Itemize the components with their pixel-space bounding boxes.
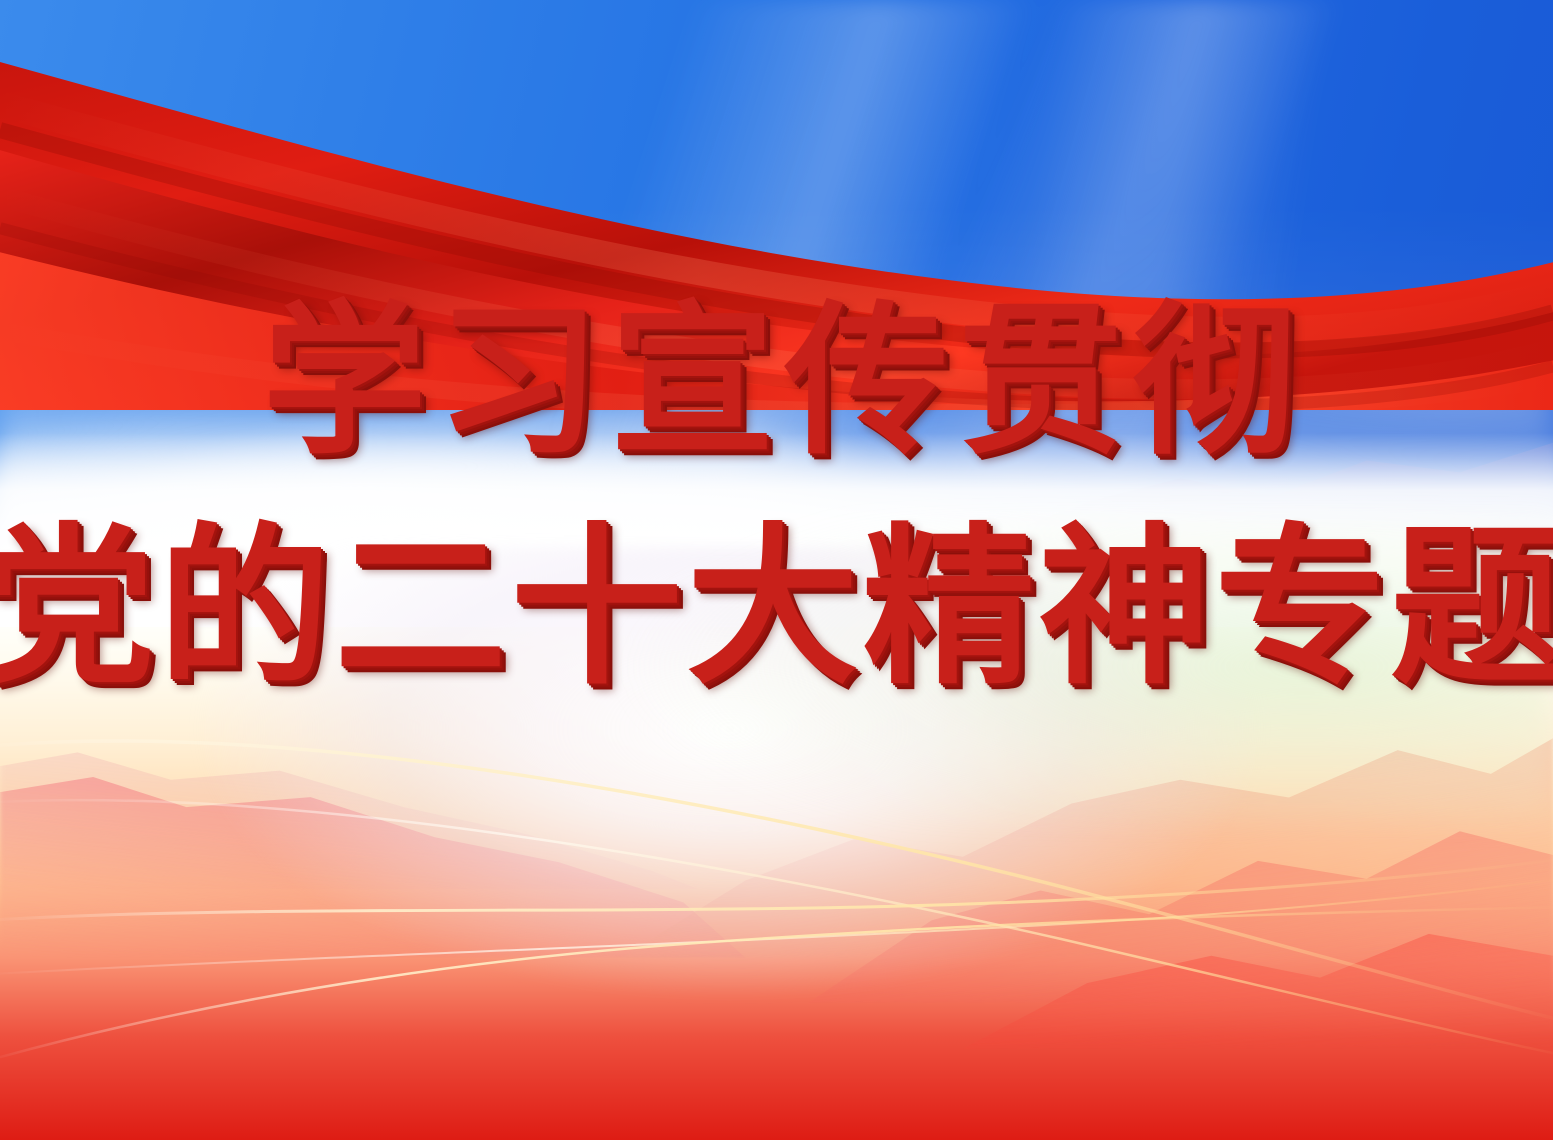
- golden-light-streaks: [0, 707, 1553, 1095]
- red-silk-ribbon: [0, 0, 1553, 410]
- propaganda-banner: 学习宣传贯彻 党的二十大精神专题: [0, 0, 1553, 1140]
